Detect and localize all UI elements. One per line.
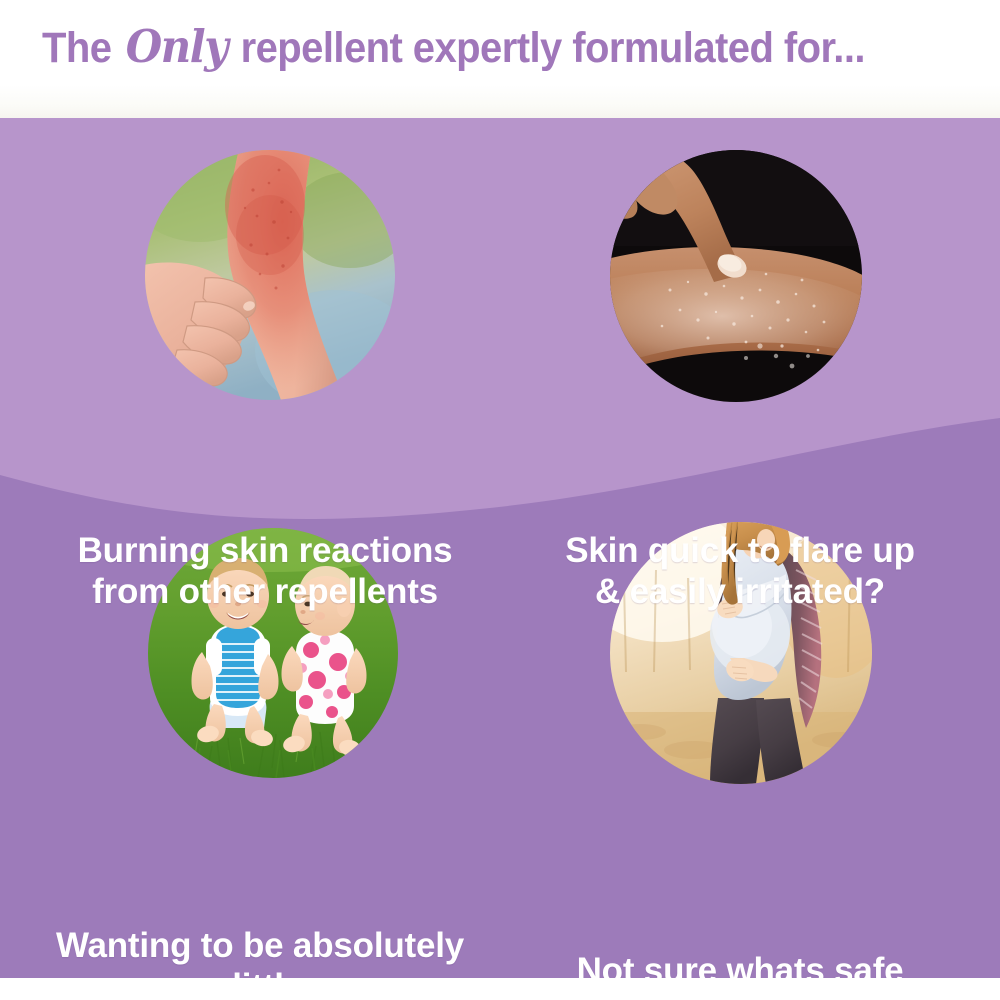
headline-emphasis: Only xyxy=(122,20,230,73)
page-title: The Only repellent expertly formulated f… xyxy=(42,24,865,70)
headline-suffix: repellent expertly formulated for... xyxy=(241,24,865,72)
card-caption-pregnant: Not sure whats safe while you’re pregnan… xyxy=(505,951,975,978)
photo-scratching-red-irritated-arm xyxy=(145,150,395,400)
photo-finger-pointing-at-flaky-skin xyxy=(610,150,862,402)
infographic-poster: The Only repellent expertly formulated f… xyxy=(0,0,1000,1000)
card-caption-burning-skin: Burning skin reactions from other repell… xyxy=(30,531,500,613)
header-band: The Only repellent expertly formulated f… xyxy=(0,0,1000,118)
headline-prefix: The xyxy=(42,24,111,72)
card-caption-flare-up: Skin quick to flare up & easily irritate… xyxy=(505,531,975,613)
card-caption-little-ones: Wanting to be absolutely sure your littl… xyxy=(20,926,500,978)
content-stage: Burning skin reactions from other repell… xyxy=(0,118,1000,978)
bottom-white-band xyxy=(0,978,1000,1000)
